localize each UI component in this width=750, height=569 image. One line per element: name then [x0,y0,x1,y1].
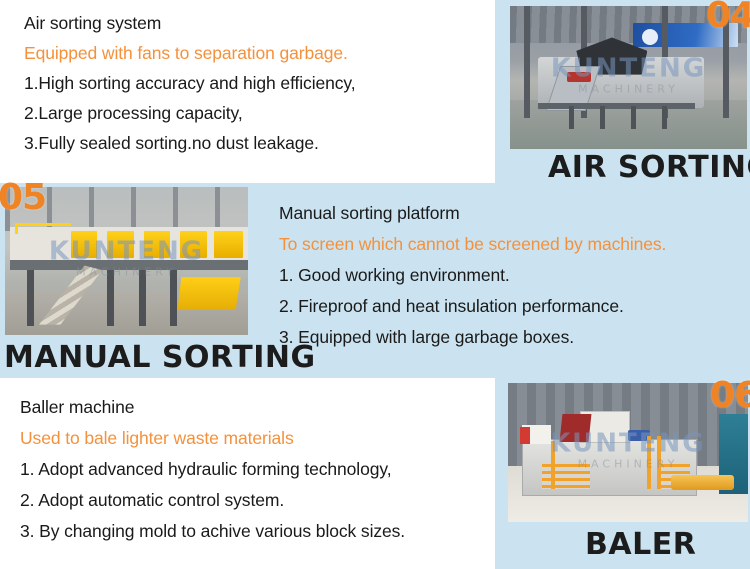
air-sorting-caption: AIR SORTING [548,150,750,185]
air-sorting-point-3: 3.Fully sealed sorting.no dust leakage. [24,128,356,158]
air-sorting-text-block: Air sorting system Equipped with fans to… [24,8,356,158]
manual-photo-yellow-bin [71,231,98,258]
baler-photo-hydraulic-pipe [657,436,661,489]
air-sorting-title: Air sorting system [24,8,356,38]
baler-caption: BALER [585,527,696,562]
air-photo-column [524,6,530,118]
air-sorting-point-1: 1.High sorting accuracy and high efficie… [24,68,356,98]
manual-sorting-subtitle: To screen which cannot be screened by ma… [279,229,666,260]
manual-photo-yellow-railing [15,223,71,235]
baler-photo-red-cover [559,414,591,442]
manual-photo-deck [10,260,248,270]
manual-photo-yellow-bin [144,231,171,258]
manual-photo-yellow-bin [107,231,134,258]
badge-number-05: 05 [0,180,46,216]
air-photo-red-component [567,72,591,82]
badge-number-06: 06 [710,378,750,414]
infographic-page: Air sorting system Equipped with fans to… [0,0,750,569]
baler-point-3: 3. By changing mold to achive various bl… [20,516,405,547]
manual-sorting-text-block: Manual sorting platform To screen which … [279,198,666,353]
baler-photo-hydraulic-ram [671,475,733,490]
manual-sorting-point-2: 2. Fireproof and heat insulation perform… [279,291,666,322]
baler-text-block: Baller machine Used to bale lighter wast… [20,392,405,547]
manual-sorting-point-3: 3. Equipped with large garbage boxes. [279,322,666,353]
baler-photo-hydraulic-pipe [647,436,651,489]
manual-sorting-title: Manual sorting platform [279,198,666,229]
manual-photo-yellow-bin [180,231,207,258]
baler-point-2: 2. Adopt automatic control system. [20,485,405,516]
manual-photo-yellow-bin [214,231,243,258]
baler-subtitle: Used to bale lighter waste materials [20,423,405,454]
air-sorting-subtitle: Equipped with fans to separation garbage… [24,38,356,68]
air-photo-support-legs [543,106,690,129]
manual-photo-support-post [139,270,146,326]
baler-photo-hydraulic-pipe [551,441,555,488]
air-sorting-point-2: 2.Large processing capacity, [24,98,356,128]
manual-photo-support-post [170,270,177,326]
baler-point-1: 1. Adopt advanced hydraulic forming tech… [20,454,405,485]
manual-photo-large-garbage-box [178,277,241,310]
manual-sorting-caption: MANUAL SORTING [4,340,316,375]
baler-photo-small-red-panel [520,427,530,444]
baler-title: Baller machine [20,392,405,423]
baler-photo-orange-bars [542,464,590,489]
badge-number-04: 04 [706,0,750,34]
manual-photo-support-post [107,270,114,326]
manual-sorting-point-1: 1. Good working environment. [279,260,666,291]
manual-photo-support-post [27,270,34,326]
